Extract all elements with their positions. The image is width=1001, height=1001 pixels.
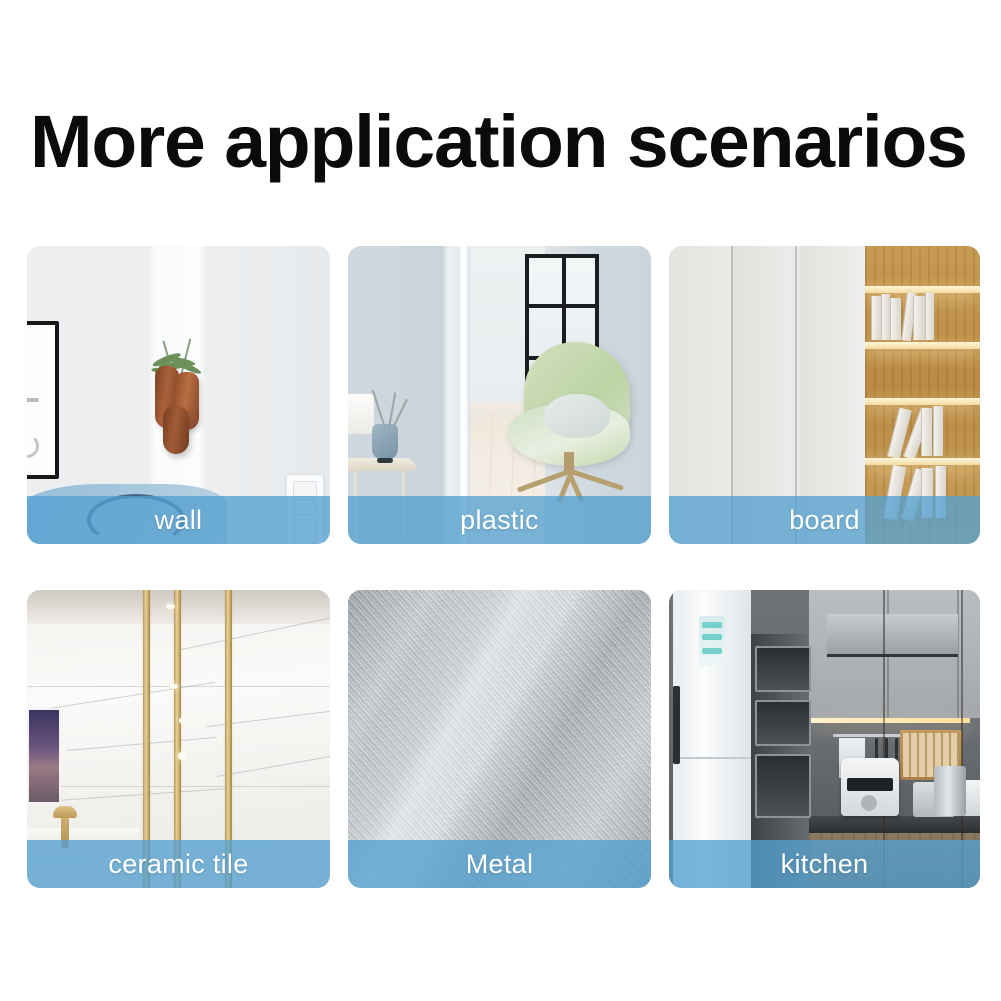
- tile-label-bar-ceramic-tile: ceramic tile: [27, 840, 330, 888]
- tile-label-ceramic-tile: ceramic tile: [108, 849, 248, 879]
- tile-label-metal: Metal: [466, 849, 534, 879]
- scenario-tile-kitchen[interactable]: kitchen: [669, 590, 980, 888]
- tile-label-bar-board: board: [669, 496, 980, 544]
- tile-label-board: board: [789, 505, 860, 535]
- tile-label-bar-plastic: plastic: [348, 496, 651, 544]
- tile-label-bar-kitchen: kitchen: [669, 840, 980, 888]
- scenario-tile-wall[interactable]: wall: [27, 246, 330, 544]
- scenario-tile-metal[interactable]: Metal: [348, 590, 651, 888]
- scenario-tile-board[interactable]: board: [669, 246, 980, 544]
- tile-label-kitchen: kitchen: [781, 849, 869, 879]
- scenario-tile-plastic[interactable]: plastic: [348, 246, 651, 544]
- tile-label-bar-wall: wall: [27, 496, 330, 544]
- scenario-tile-ceramic-tile[interactable]: ceramic tile: [27, 590, 330, 888]
- scenario-grid: wall plast: [27, 246, 979, 894]
- page-title: More application scenarios: [30, 101, 1000, 183]
- tile-label-bar-metal: Metal: [348, 840, 651, 888]
- tile-label-plastic: plastic: [460, 505, 539, 535]
- tile-label-wall: wall: [155, 505, 203, 535]
